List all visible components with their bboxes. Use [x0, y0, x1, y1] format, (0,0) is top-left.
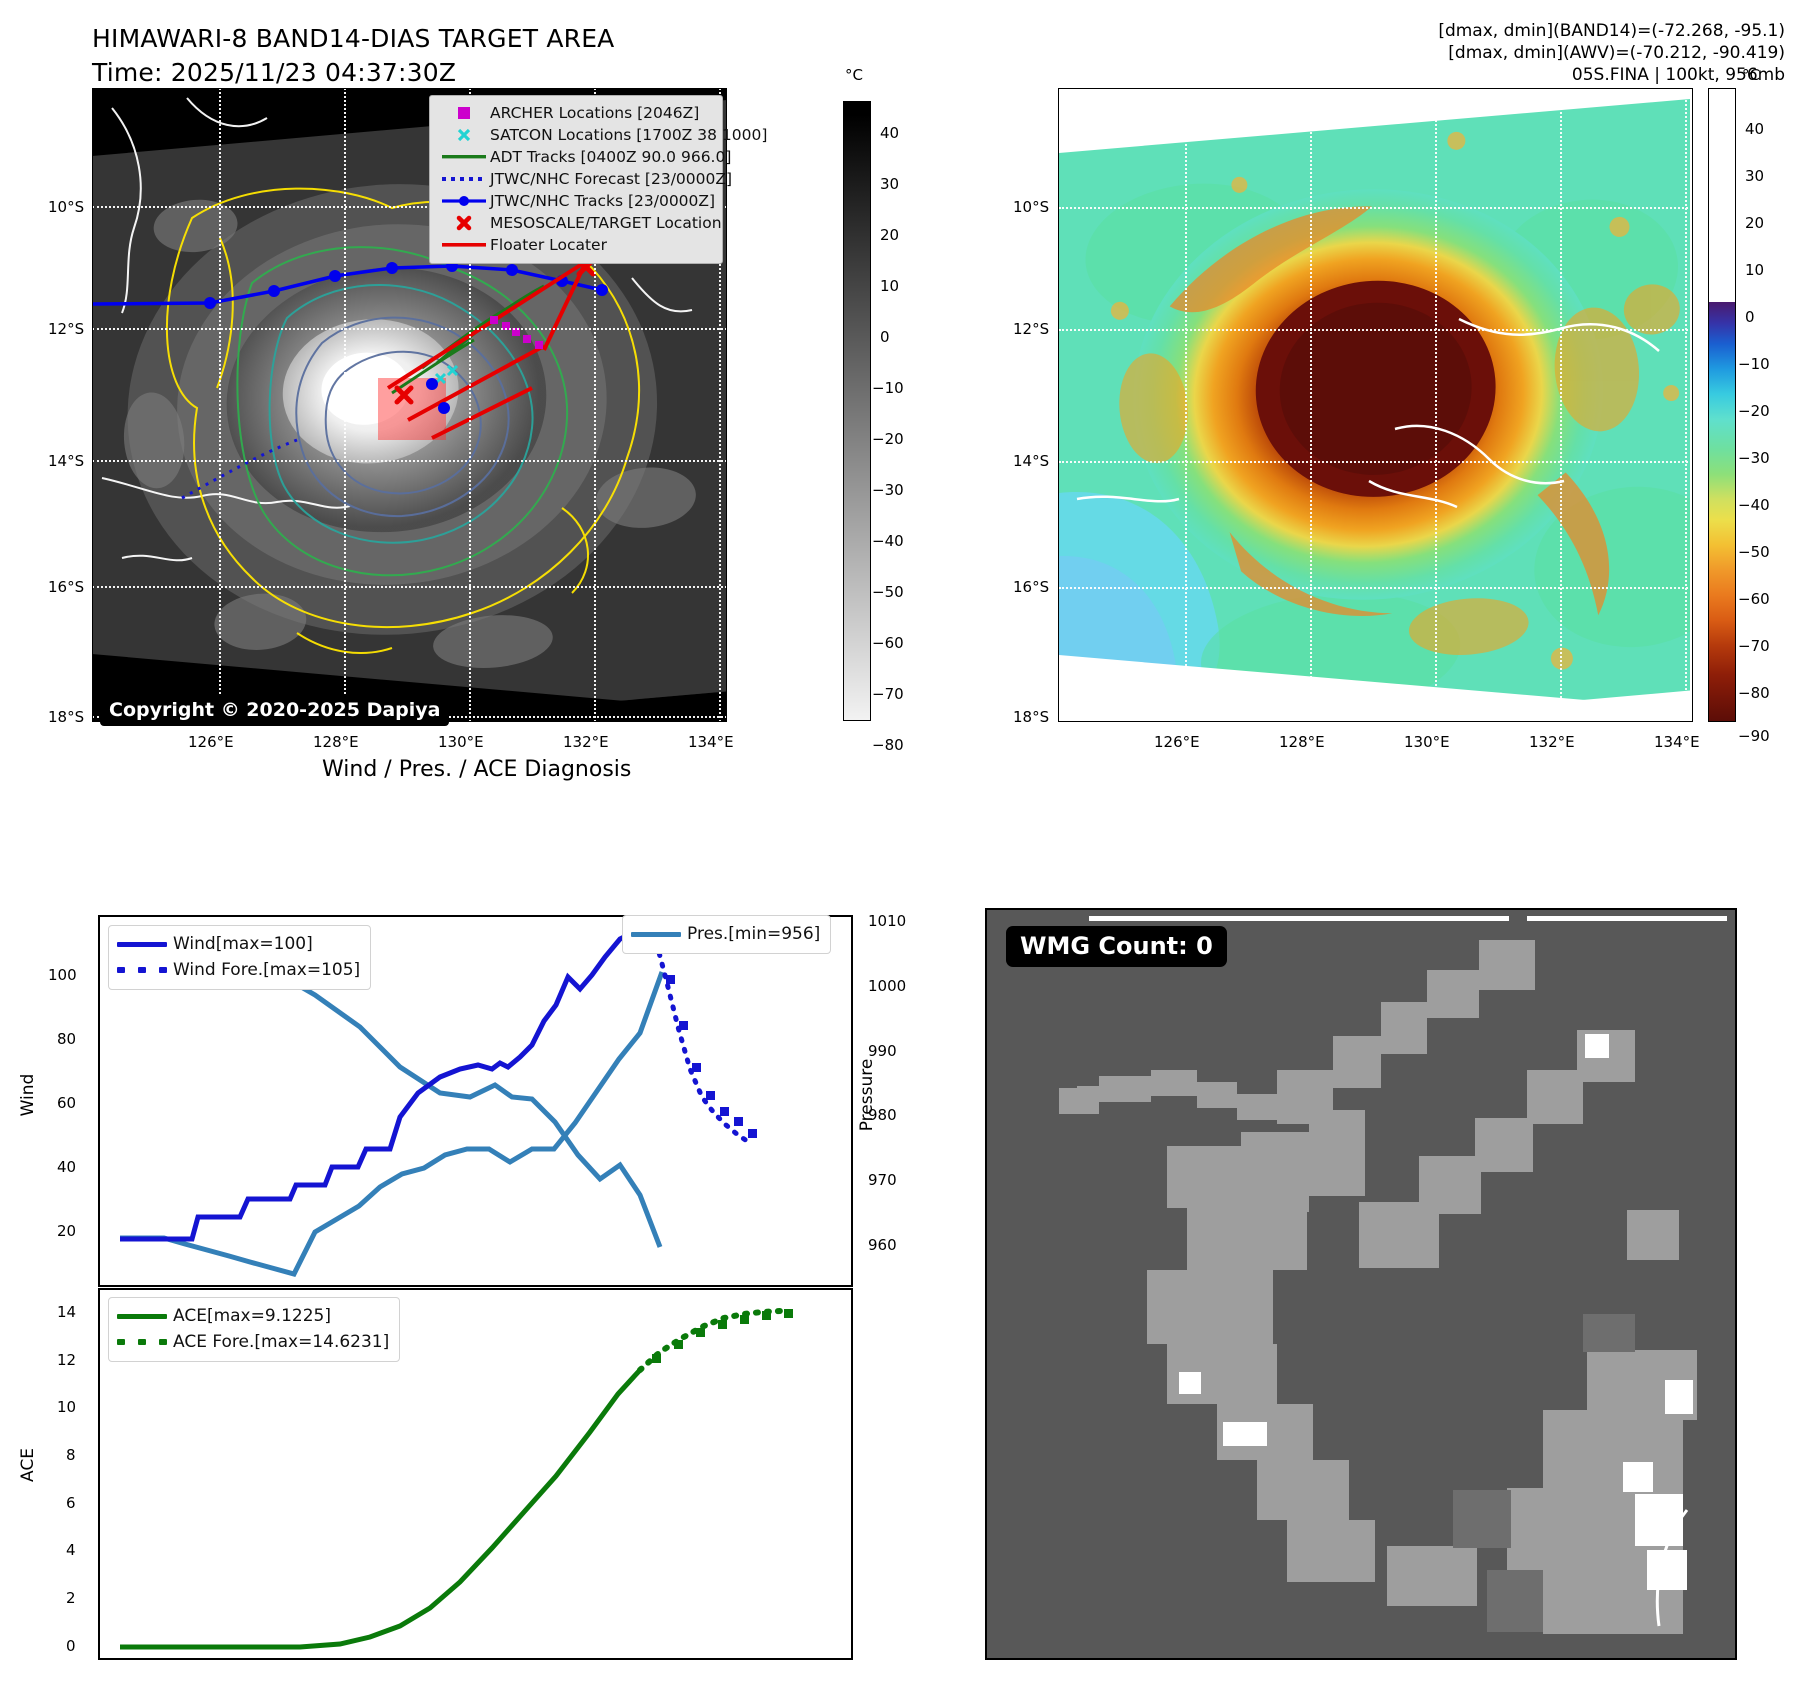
- ace-ytick: 10: [57, 1398, 76, 1416]
- ir-xtick: 134°E: [688, 733, 734, 751]
- ace-ytick: 8: [66, 1446, 76, 1464]
- awv-xtick: 134°E: [1654, 733, 1700, 751]
- awv-xtick: 126°E: [1154, 733, 1200, 751]
- awv-xtick: 128°E: [1279, 733, 1325, 751]
- legend-item-jtwc-forecast[interactable]: JTWC/NHC Forecast [23/0000Z]: [438, 168, 714, 190]
- ir-ytick: 12°S: [48, 320, 84, 338]
- ir-ytick: 18°S: [48, 708, 84, 726]
- wind-legend-label: Wind Fore.[max=105]: [173, 960, 360, 980]
- solid-line-icon: [438, 153, 490, 161]
- awv-ytick: 12°S: [1013, 320, 1049, 338]
- storm-summary: 05S.FINA | 100kt, 956mb: [1438, 64, 1785, 86]
- awv-cb-tick: −80: [1738, 684, 1770, 702]
- line-with-dot-icon: [438, 195, 490, 207]
- legend-label: SATCON Locations [1700Z 38 1000]: [490, 126, 767, 144]
- legend-label: MESOSCALE/TARGET Location: [490, 214, 722, 232]
- diagnosis-title: Wind / Pres. / ACE Diagnosis: [322, 757, 631, 782]
- awv-ytick: 16°S: [1013, 578, 1049, 596]
- awv-cb-tick: −10: [1738, 355, 1770, 373]
- awv-cb-tick: −50: [1738, 543, 1770, 561]
- ace-legend-label: ACE[max=9.1225]: [173, 1306, 331, 1326]
- wind-ytick: 20: [57, 1222, 76, 1240]
- ir-cb-tick: 20: [880, 226, 899, 244]
- legend-label: JTWC/NHC Forecast [23/0000Z]: [490, 170, 732, 188]
- ir-ytick: 16°S: [48, 578, 84, 596]
- ir-cb-tick: 30: [880, 175, 899, 193]
- awv-satellite-image: [1058, 88, 1693, 722]
- pressure-ytick: 990: [868, 1042, 897, 1060]
- ir-cb-tick: −60: [872, 634, 904, 652]
- legend-item-satcon[interactable]: SATCON Locations [1700Z 38 1000]: [438, 124, 714, 146]
- ace-axis-label: ACE: [18, 1435, 38, 1495]
- pressure-legend-label: Pres.[min=956]: [687, 924, 820, 944]
- wmg-map: [985, 908, 1737, 1660]
- x-marker-bold-icon: [438, 214, 490, 232]
- awv-ytick: 14°S: [1013, 452, 1049, 470]
- dotted-line-icon: [117, 967, 173, 973]
- solid-line-icon: [117, 1314, 173, 1319]
- awv-cb-tick: −30: [1738, 449, 1770, 467]
- product-title: HIMAWARI-8 BAND14-DIAS TARGET AREA: [92, 22, 615, 56]
- dotted-line-icon: [438, 175, 490, 183]
- ir-xtick: 130°E: [438, 733, 484, 751]
- ir-cb-tick: −40: [872, 532, 904, 550]
- solid-line-icon: [438, 241, 490, 249]
- awv-cb-tick: 30: [1745, 167, 1764, 185]
- legend-item-jtwc-tracks[interactable]: JTWC/NHC Tracks [23/0000Z]: [438, 190, 714, 212]
- square-marker-icon: [438, 106, 490, 120]
- ace-ytick: 12: [57, 1351, 76, 1369]
- ace-legend-item[interactable]: ACE[max=9.1225]: [117, 1303, 389, 1329]
- legend-label: JTWC/NHC Tracks [23/0000Z]: [490, 192, 715, 210]
- page-title: HIMAWARI-8 BAND14-DIAS TARGET AREA Time:…: [92, 22, 615, 90]
- pressure-ytick: 1010: [868, 912, 906, 930]
- pressure-ytick: 960: [868, 1236, 897, 1254]
- legend-label: Floater Locater: [490, 236, 607, 254]
- ir-cb-tick: 10: [880, 277, 899, 295]
- solid-line-icon: [117, 942, 173, 947]
- legend-item-adt-tracks[interactable]: ADT Tracks [0400Z 90.0 966.0]: [438, 146, 714, 168]
- awv-cb-tick: 10: [1745, 261, 1764, 279]
- x-marker-icon: [438, 127, 490, 143]
- wind-legend-label: Wind[max=100]: [173, 934, 313, 954]
- wind-ytick: 60: [57, 1094, 76, 1112]
- legend-item-archer[interactable]: ARCHER Locations [2046Z]: [438, 102, 714, 124]
- ir-xtick: 126°E: [188, 733, 234, 751]
- ace-ytick: 4: [66, 1541, 76, 1559]
- ir-cb-tick: −50: [872, 583, 904, 601]
- ir-colorbar-unit: °C: [845, 66, 863, 84]
- awv-colorbar-unit: °C: [1742, 66, 1760, 84]
- ir-ytick: 14°S: [48, 452, 84, 470]
- awv-ytick: 18°S: [1013, 708, 1049, 726]
- dotted-line-icon: [117, 1339, 173, 1345]
- product-time: Time: 2025/11/23 04:37:30Z: [92, 56, 615, 90]
- ir-cb-tick: 40: [880, 124, 899, 142]
- wind-axis-label: Wind: [18, 1065, 38, 1125]
- legend-item-mesoscale-target[interactable]: MESOSCALE/TARGET Location: [438, 212, 714, 234]
- legend-label: ADT Tracks [0400Z 90.0 966.0]: [490, 148, 731, 166]
- pressure-legend: Pres.[min=956]: [622, 915, 831, 954]
- pressure-ytick: 980: [868, 1106, 897, 1124]
- ir-cb-tick: 0: [880, 328, 890, 346]
- legend-item-floater-locater[interactable]: Floater Locater: [438, 234, 714, 256]
- awv-cb-tick: −40: [1738, 496, 1770, 514]
- copyright-badge: Copyright © 2020-2025 Dapiya: [100, 695, 449, 726]
- meta-band14: [dmax, dmin](BAND14)=(-72.268, -95.1): [1438, 20, 1785, 42]
- awv-cb-tick: 0: [1745, 308, 1755, 326]
- ace-ytick: 6: [66, 1494, 76, 1512]
- ace-ytick: 2: [66, 1589, 76, 1607]
- ace-ytick: 14: [57, 1303, 76, 1321]
- ace-ytick: 0: [66, 1637, 76, 1655]
- meta-awv: [dmax, dmin](AWV)=(-70.212, -90.419): [1438, 42, 1785, 64]
- ir-cb-tick: −10: [872, 379, 904, 397]
- ir-cb-tick: −70: [872, 685, 904, 703]
- ir-map-legend: ARCHER Locations [2046Z] SATCON Location…: [429, 95, 723, 264]
- awv-cb-tick: −70: [1738, 637, 1770, 655]
- wind-ytick: 100: [48, 966, 77, 984]
- ir-colorbar: [843, 101, 871, 721]
- wind-legend: Wind[max=100] Wind Fore.[max=105]: [108, 925, 371, 990]
- ir-ytick: 10°S: [48, 198, 84, 216]
- awv-cb-tick: −20: [1738, 402, 1770, 420]
- wind-ytick: 40: [57, 1158, 76, 1176]
- ace-fore-legend-item[interactable]: ACE Fore.[max=14.6231]: [117, 1329, 389, 1355]
- legend-label: ARCHER Locations [2046Z]: [490, 104, 699, 122]
- pressure-axis-label: Pressure: [857, 1050, 877, 1140]
- metadata-block: [dmax, dmin](BAND14)=(-72.268, -95.1) [d…: [1438, 20, 1785, 86]
- awv-cb-tick: 20: [1745, 214, 1764, 232]
- ace-legend: ACE[max=9.1225] ACE Fore.[max=14.6231]: [108, 1297, 400, 1362]
- ir-xtick: 132°E: [563, 733, 609, 751]
- pressure-ytick: 970: [868, 1171, 897, 1189]
- ir-cb-tick: −30: [872, 481, 904, 499]
- awv-xtick: 130°E: [1404, 733, 1450, 751]
- screenshot-root: HIMAWARI-8 BAND14-DIAS TARGET AREA Time:…: [0, 0, 1797, 1690]
- pressure-legend-item[interactable]: Pres.[min=956]: [631, 921, 820, 947]
- ir-cb-tick: −80: [872, 736, 904, 754]
- ir-xtick: 128°E: [313, 733, 359, 751]
- awv-ytick: 10°S: [1013, 198, 1049, 216]
- awv-colorbar: [1708, 88, 1736, 722]
- wind-fore-legend-item[interactable]: Wind Fore.[max=105]: [117, 957, 360, 983]
- awv-cb-tick: −60: [1738, 590, 1770, 608]
- ir-cb-tick: −20: [872, 430, 904, 448]
- awv-cb-tick: −90: [1738, 727, 1770, 745]
- wind-ytick: 80: [57, 1030, 76, 1048]
- solid-line-icon: [631, 932, 687, 937]
- wind-legend-item[interactable]: Wind[max=100]: [117, 931, 360, 957]
- awv-cb-tick: 40: [1745, 120, 1764, 138]
- awv-xtick: 132°E: [1529, 733, 1575, 751]
- ace-legend-label: ACE Fore.[max=14.6231]: [173, 1332, 389, 1352]
- wmg-count-badge: WMG Count: 0: [1006, 926, 1227, 967]
- pressure-ytick: 1000: [868, 977, 906, 995]
